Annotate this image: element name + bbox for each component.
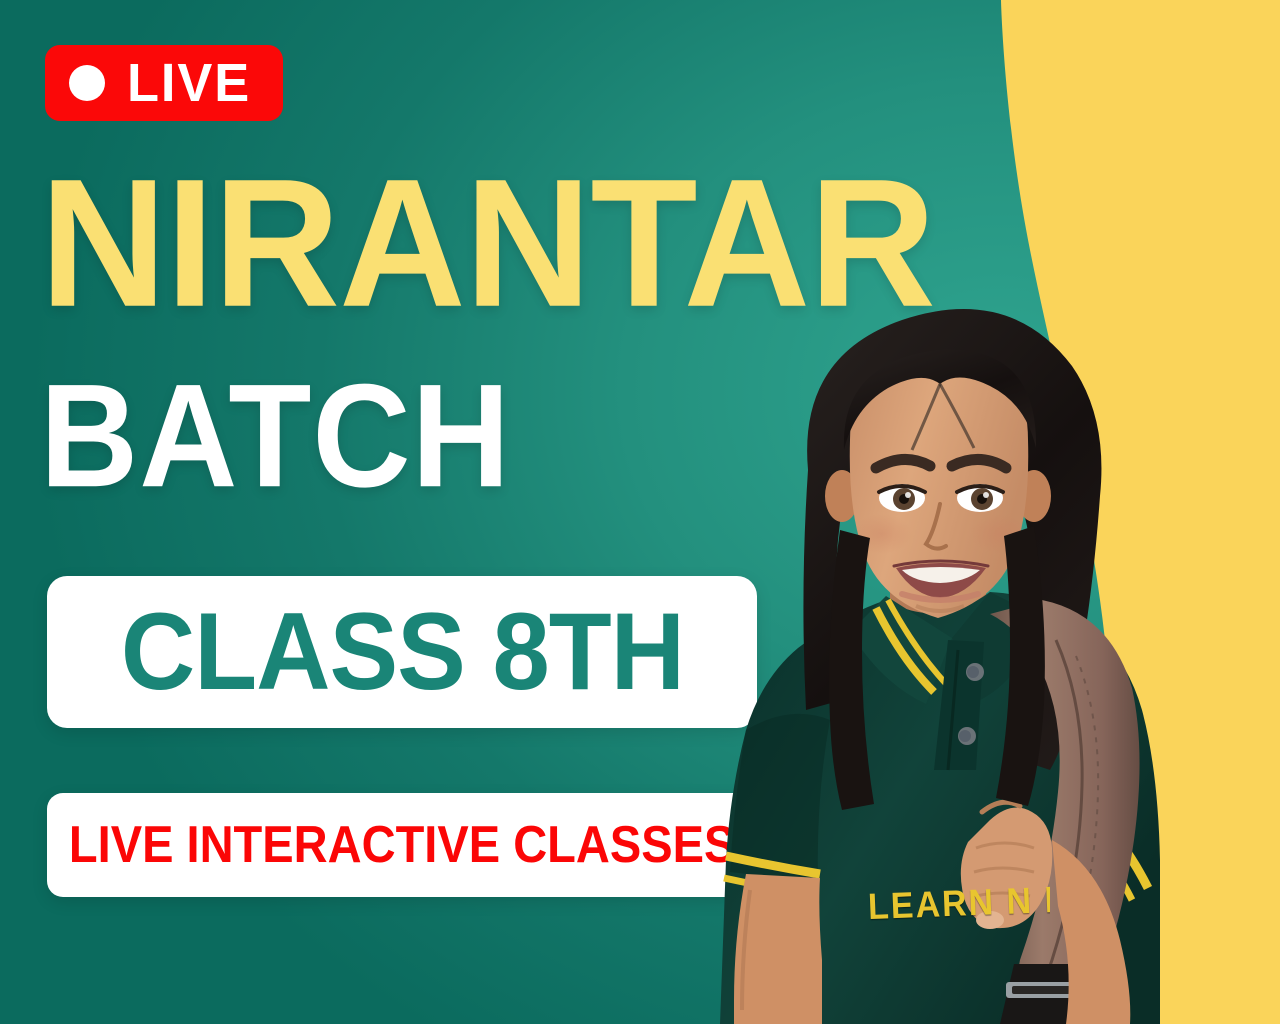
- live-badge-label: LIVE: [127, 56, 251, 110]
- tagline-card-label: LIVE INTERACTIVE CLASSES: [69, 819, 735, 871]
- promo-banner: LIVE NIRANTAR BATCH CLASS 8TH LIVE INTER…: [0, 0, 1280, 1024]
- shirt-text: LEARN N PREP: [867, 876, 1050, 929]
- student-photo: LEARN N PREP: [690, 300, 1280, 1024]
- tagline-card[interactable]: LIVE INTERACTIVE CLASSES: [47, 793, 757, 897]
- live-dot-icon: [69, 65, 105, 101]
- live-badge[interactable]: LIVE: [45, 45, 283, 121]
- class-card[interactable]: CLASS 8TH: [47, 576, 757, 728]
- shirt-text-clip: LEARN N PREP: [800, 860, 1050, 940]
- class-card-label: CLASS 8TH: [120, 597, 683, 706]
- headline-secondary: BATCH: [40, 362, 511, 509]
